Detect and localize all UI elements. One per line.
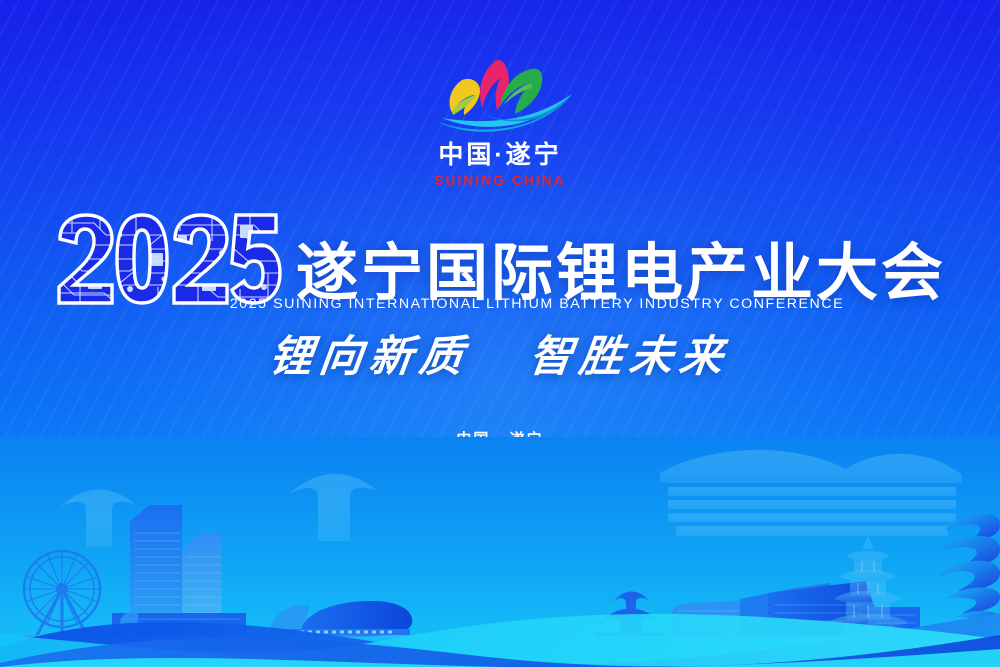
year-2025-circuit-text	[54, 213, 282, 305]
logo-chinese-name: 中国·遂宁	[0, 142, 1000, 170]
logo-english-name: SUINING CHINA	[0, 173, 1000, 188]
main-title-row: 遂宁国际锂电产业大会	[0, 213, 1000, 305]
cityscape-scene	[0, 437, 1000, 667]
conference-banner: 中国·遂宁 SUINING CHINA	[0, 0, 1000, 667]
cityscape-svg	[0, 437, 1000, 667]
slogan-right: 智胜未来	[527, 322, 735, 384]
conference-slogan: 锂向新质 智胜未来	[0, 322, 1000, 384]
suining-logo-block: 中国·遂宁 SUINING CHINA	[0, 52, 1000, 188]
slogan-left: 锂向新质	[266, 322, 474, 384]
conference-title-english: 2025 SUINING INTERNATIONAL LITHIUM BATTE…	[0, 296, 1000, 312]
suining-lotus-butterfly-logo	[420, 52, 580, 136]
slogan-spacer	[471, 332, 529, 382]
